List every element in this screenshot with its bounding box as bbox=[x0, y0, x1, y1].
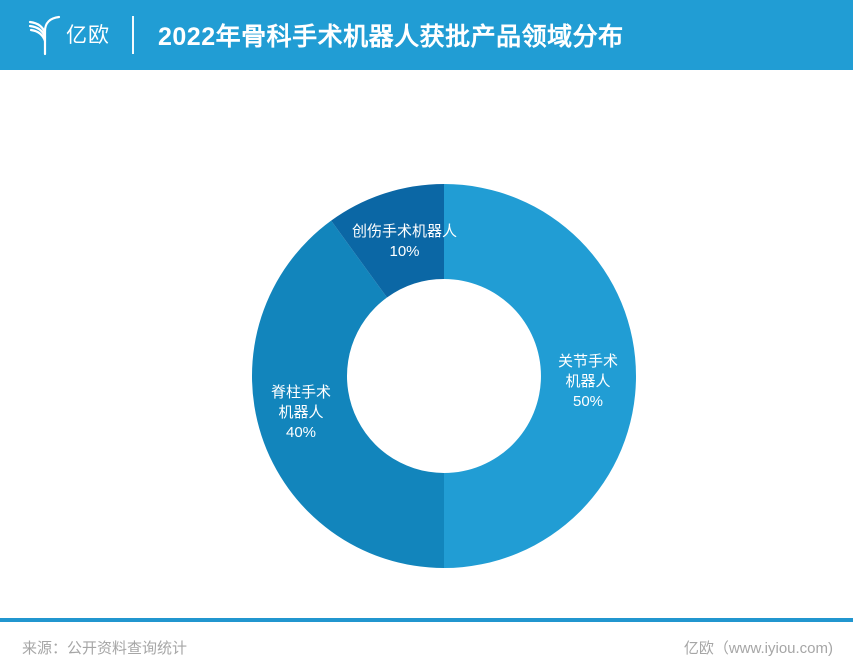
yiou-sprout-logo-icon bbox=[26, 14, 64, 56]
header-divider bbox=[132, 16, 134, 54]
donut-chart: 关节手术 机器人 50% 脊柱手术 机器人 40% 创伤手术机器人 10% bbox=[0, 70, 853, 618]
donut-slice-joint[interactable] bbox=[444, 184, 636, 568]
page-footer: 来源：公开资料查询统计 亿欧（www.iyiou.com) bbox=[0, 622, 853, 672]
footer-source-text: 来源：公开资料查询统计 bbox=[22, 637, 187, 658]
page-title: 2022年骨科手术机器人获批产品领域分布 bbox=[158, 17, 624, 53]
donut-chart-svg bbox=[0, 70, 853, 618]
brand-logo: 亿欧 bbox=[26, 13, 110, 57]
footer-brand-text: 亿欧（www.iyiou.com) bbox=[684, 637, 833, 658]
brand-logo-text: 亿欧 bbox=[66, 25, 110, 46]
page-header: 亿欧 2022年骨科手术机器人获批产品领域分布 bbox=[0, 0, 853, 70]
